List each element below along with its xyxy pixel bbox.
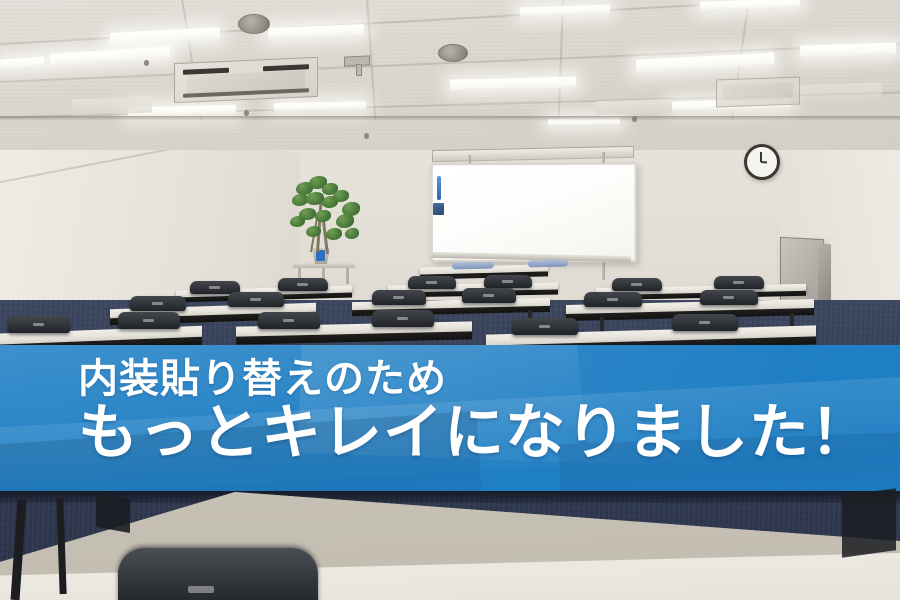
ceiling-wall-joint [0,116,900,121]
photo-banner-image: 内装貼り替えのため もっとキレイになりました！ [0,0,900,600]
chair [130,296,186,311]
ceiling-vent [438,44,468,62]
banner-headline-secondary: もっとキレイになりました！ [78,403,871,463]
ceiling-fixture-frame [72,97,152,116]
ceiling-device-stem [356,64,362,76]
chair [118,312,180,329]
chair [278,278,328,291]
chair [714,276,764,289]
promo-banner: 内装貼り替えのため もっとキレイになりました！ [0,345,900,491]
foreground-chair-right [842,488,896,558]
chair [372,310,434,327]
ceiling [0,0,900,150]
blue-roll-item [452,261,494,269]
chair [372,290,426,305]
chair [228,292,284,307]
whiteboard-eraser-icon [433,203,444,215]
whiteboard-marker-icon [437,176,441,200]
whiteboard [431,163,637,263]
sprinkler-head [144,60,149,65]
chair [408,276,456,289]
chair [584,292,642,307]
ceiling-light [274,101,366,111]
ceiling-vent [238,14,270,34]
ceiling-fixture-frame [796,82,882,103]
chair [8,316,70,333]
ceiling-fixture-frame [596,99,672,116]
ceiling-ac-unit [174,57,318,103]
foreground-chair [118,548,318,600]
blue-roll-item [528,260,568,268]
sprinkler-head [364,133,369,138]
chair [258,312,320,329]
banner-headline-primary: 内装貼り替えのため [78,359,447,399]
chair [512,318,578,335]
chair [700,290,758,305]
chair [612,278,662,291]
ceiling-ac-unit-secondary [716,77,800,108]
chair [462,288,516,303]
foreground-shadow-strip [0,491,900,503]
foreground-chair-logo [188,586,214,593]
folded-table-panel-edge [818,244,831,303]
foreground-desk-bracket [96,493,130,533]
sprinkler-head [244,110,249,115]
banner-text-group: 内装貼り替えのため もっとキレイになりました！ [0,345,900,491]
chair [484,275,532,288]
wall-clock-icon [744,144,780,180]
chair [672,314,738,331]
